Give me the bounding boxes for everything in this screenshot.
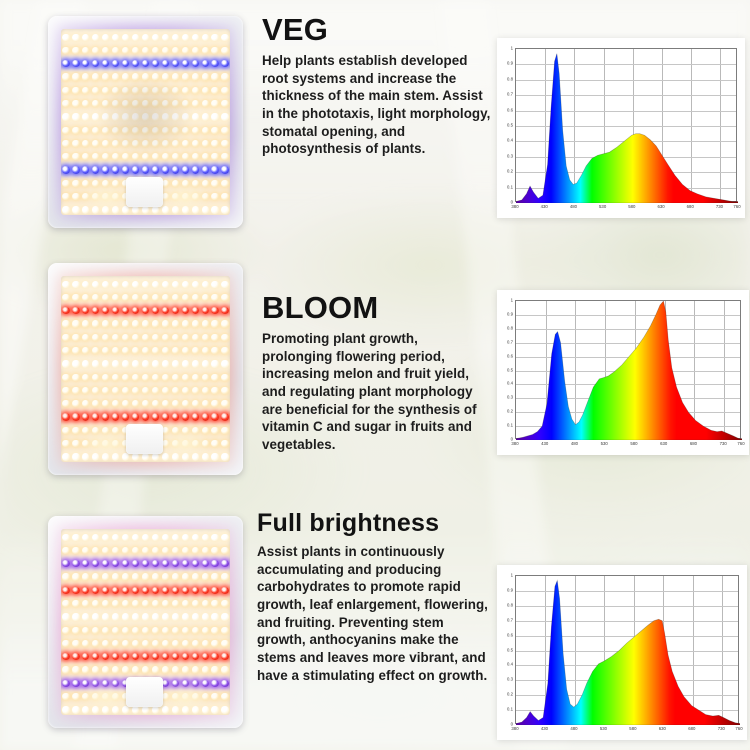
led-diode-accent [162, 60, 169, 67]
led-diode-white [211, 400, 218, 407]
led-diode-white [211, 100, 218, 107]
led-diode-white [211, 140, 218, 147]
chart-xtick-label: 480 [570, 726, 577, 731]
led-diode-white [211, 47, 218, 54]
led-diode-accent [132, 560, 139, 567]
led-diode-accent [122, 653, 129, 660]
led-diode-white [211, 627, 218, 634]
led-diode-accent [122, 560, 129, 567]
led-diode-accent [192, 166, 199, 173]
led-diode-white [192, 613, 199, 620]
chart-ytick-label: 0.1 [497, 423, 513, 428]
led-diode-white [211, 34, 218, 41]
led-row [61, 532, 230, 543]
led-diode-white [72, 374, 79, 381]
led-diode-accent [152, 166, 159, 173]
led-diode-white [162, 640, 169, 647]
led-diode-white [221, 706, 228, 713]
led-diode-white [62, 360, 69, 367]
spectrum-curve [516, 49, 738, 203]
chart-xtick-label: 760 [737, 441, 744, 446]
led-grow-light-panel-full[interactable] [48, 516, 243, 728]
led-diode-accent [72, 307, 79, 314]
led-diode-accent [112, 60, 119, 67]
led-diode-white [82, 534, 89, 541]
led-diode-white [202, 140, 209, 147]
led-diode-white [122, 640, 129, 647]
led-diode-white [202, 47, 209, 54]
led-diode-white [72, 206, 79, 213]
led-diode-white [152, 627, 159, 634]
led-diode-accent [122, 60, 129, 67]
led-panel-veg-wrapper[interactable] [48, 16, 243, 228]
led-grow-light-panel-veg[interactable] [48, 16, 243, 228]
led-diode-white [202, 360, 209, 367]
led-diode-white [82, 347, 89, 354]
led-row [61, 279, 230, 290]
led-diode-accent [221, 680, 228, 687]
spectrum-chart-card-full[interactable]: 38043048053058063068073076000.10.20.30.4… [497, 565, 747, 740]
led-diode-white [132, 320, 139, 327]
chart-xtick-label: 430 [541, 726, 548, 731]
led-diode-accent [202, 60, 209, 67]
led-diode-accent [82, 166, 89, 173]
led-diode-accent [192, 560, 199, 567]
led-diode-accent [162, 653, 169, 660]
led-diode-white [221, 427, 228, 434]
led-diode-white [202, 627, 209, 634]
chart-ytick-label: 1 [497, 298, 513, 303]
led-diode-white [72, 547, 79, 554]
led-diode-white [102, 334, 109, 341]
led-diode-accent [221, 653, 228, 660]
chart-ytick-label: 1 [497, 573, 513, 578]
led-diode-white [202, 573, 209, 580]
led-diode-white [72, 666, 79, 673]
led-diode-white [102, 534, 109, 541]
led-diode-white [72, 320, 79, 327]
led-grow-light-panel-bloom[interactable] [48, 263, 243, 475]
led-diode-white [202, 600, 209, 607]
led-diode-white [132, 47, 139, 54]
led-row [61, 319, 230, 330]
led-diode-white [62, 320, 69, 327]
led-row [61, 292, 230, 303]
led-diode-white [102, 374, 109, 381]
led-row [61, 398, 230, 409]
led-diode-white [202, 281, 209, 288]
led-diode-white [172, 34, 179, 41]
led-diode-white [132, 627, 139, 634]
chart-xtick-label: 630 [660, 441, 667, 446]
led-diode-white [92, 627, 99, 634]
led-diode-white [152, 347, 159, 354]
chart-xtick-label: 530 [601, 441, 608, 446]
led-diode-white [152, 34, 159, 41]
led-diode-white [162, 387, 169, 394]
led-row [61, 651, 230, 662]
led-diode-white [112, 600, 119, 607]
chart-xtick-label: 680 [687, 204, 694, 209]
led-diode-white [182, 47, 189, 54]
led-diode-white [202, 347, 209, 354]
led-diode-white [92, 613, 99, 620]
led-diode-white [152, 547, 159, 554]
led-diode-white [192, 547, 199, 554]
section-bloom: BLOOM Promoting plant growth, prolonging… [0, 250, 750, 500]
led-diode-white [82, 400, 89, 407]
led-diode-white [112, 294, 119, 301]
led-diode-accent [82, 587, 89, 594]
led-diode-white [142, 320, 149, 327]
led-diode-accent [162, 166, 169, 173]
led-diode-white [62, 206, 69, 213]
led-diode-white [211, 440, 218, 447]
chart-xtick-label: 380 [511, 204, 518, 209]
led-diode-white [182, 573, 189, 580]
led-diode-white [62, 193, 69, 200]
chart-xtick-label: 430 [541, 441, 548, 446]
driver-box[interactable] [126, 677, 163, 707]
led-diode-white [72, 613, 79, 620]
led-diode-white [132, 374, 139, 381]
led-diode-white [132, 334, 139, 341]
led-diode-accent [142, 413, 149, 420]
led-diode-white [172, 640, 179, 647]
led-diode-white [92, 640, 99, 647]
chart-xtick-label: 380 [511, 441, 518, 446]
led-diode-white [122, 387, 129, 394]
led-diode-white [92, 666, 99, 673]
led-diode-accent [142, 653, 149, 660]
led-diode-white [202, 334, 209, 341]
led-diode-white [211, 281, 218, 288]
led-diode-accent [192, 587, 199, 594]
led-diode-white [112, 320, 119, 327]
led-diode-accent [142, 587, 149, 594]
led-diode-white [211, 87, 218, 94]
led-diode-white [221, 547, 228, 554]
led-row [61, 359, 230, 370]
led-diode-accent [62, 307, 69, 314]
led-diode-accent [221, 560, 228, 567]
led-diode-white [172, 334, 179, 341]
chart-ytick-label: 0.7 [497, 339, 513, 344]
led-diode-accent [62, 413, 69, 420]
led-diode-white [82, 573, 89, 580]
led-diode-accent [192, 307, 199, 314]
led-diode-white [202, 73, 209, 80]
led-diode-white [132, 34, 139, 41]
led-diode-white [172, 627, 179, 634]
led-diode-white [72, 640, 79, 647]
led-row [61, 58, 230, 69]
chart-ytick-label: 0.6 [497, 107, 513, 112]
led-diode-white [122, 334, 129, 341]
led-diode-white [92, 34, 99, 41]
led-diode-accent [82, 60, 89, 67]
led-diode-white [172, 281, 179, 288]
spectrum-curve [516, 301, 742, 440]
driver-box[interactable] [126, 177, 163, 207]
led-diode-white [62, 334, 69, 341]
led-diode-accent [62, 680, 69, 687]
led-diode-white [82, 320, 89, 327]
led-diode-white [172, 320, 179, 327]
led-diode-accent [182, 60, 189, 67]
led-diode-accent [182, 560, 189, 567]
led-diode-white [62, 640, 69, 647]
led-diode-white [62, 400, 69, 407]
led-diode-white [142, 206, 149, 213]
led-diode-white [82, 34, 89, 41]
led-diode-white [211, 360, 218, 367]
led-diode-white [82, 613, 89, 620]
led-diode-white [211, 613, 218, 620]
led-diode-white [142, 281, 149, 288]
led-diode-white [82, 113, 89, 120]
chart-ytick-label: 0.9 [497, 587, 513, 592]
led-diode-white [72, 706, 79, 713]
led-diode-accent [102, 166, 109, 173]
led-diode-white [211, 153, 218, 160]
led-diode-white [82, 153, 89, 160]
led-diode-white [172, 600, 179, 607]
led-diode-white [72, 693, 79, 700]
led-diode-white [142, 627, 149, 634]
led-diode-white [221, 34, 228, 41]
led-diode-white [211, 693, 218, 700]
led-diode-white [72, 140, 79, 147]
chart-ytick-label: 0.2 [497, 692, 513, 697]
led-row [61, 385, 230, 396]
led-diode-white [82, 87, 89, 94]
led-diode-white [112, 360, 119, 367]
led-diode-white [72, 360, 79, 367]
chart-ytick-label: 0.9 [497, 311, 513, 316]
led-diode-white [122, 360, 129, 367]
led-diode-accent [152, 560, 159, 567]
led-panel-full-wrapper[interactable] [48, 516, 243, 728]
led-diode-white [142, 640, 149, 647]
led-diode-white [192, 347, 199, 354]
led-diode-white [221, 387, 228, 394]
led-diode-white [102, 47, 109, 54]
led-diode-white [211, 320, 218, 327]
led-diode-white [122, 400, 129, 407]
led-diode-white [182, 640, 189, 647]
led-diode-accent [162, 413, 169, 420]
led-diode-white [82, 334, 89, 341]
led-diode-white [211, 600, 218, 607]
led-diode-white [211, 640, 218, 647]
led-diode-white [182, 547, 189, 554]
led-diode-white [162, 360, 169, 367]
led-diode-white [152, 640, 159, 647]
led-diode-white [72, 193, 79, 200]
led-diode-accent [162, 587, 169, 594]
led-diode-white [152, 534, 159, 541]
led-diode-white [122, 573, 129, 580]
chart-plot-area [515, 48, 737, 202]
led-diode-white [152, 320, 159, 327]
led-diode-white [221, 334, 228, 341]
led-diode-white [92, 387, 99, 394]
led-diode-white [122, 320, 129, 327]
led-diode-accent [202, 560, 209, 567]
chart-ytick-label: 0.4 [497, 138, 513, 143]
led-diode-accent [82, 413, 89, 420]
led-diode-white [202, 387, 209, 394]
led-diode-white [221, 281, 228, 288]
led-diode-white [152, 47, 159, 54]
led-diode-white [62, 374, 69, 381]
led-diode-white [162, 281, 169, 288]
led-diode-accent [62, 560, 69, 567]
body-full-brightness: Assist plants in continuously accumulati… [257, 543, 495, 685]
led-diode-white [221, 573, 228, 580]
led-diode-white [202, 294, 209, 301]
led-diode-white [162, 573, 169, 580]
led-diode-white [92, 281, 99, 288]
led-diode-white [62, 100, 69, 107]
body-bloom: Promoting plant growth, prolonging flowe… [262, 330, 492, 454]
led-row [61, 638, 230, 649]
led-diode-accent [172, 587, 179, 594]
led-diode-accent [192, 60, 199, 67]
led-diode-white [102, 666, 109, 673]
led-diode-white [172, 347, 179, 354]
led-diode-white [192, 666, 199, 673]
led-diode-white [72, 73, 79, 80]
led-diode-white [102, 613, 109, 620]
led-diode-white [82, 127, 89, 134]
led-panel-bloom-wrapper[interactable] [48, 263, 243, 475]
led-diode-accent [82, 560, 89, 567]
led-diode-accent [142, 166, 149, 173]
led-diode-accent [202, 307, 209, 314]
chart-ytick-label: 0.1 [497, 184, 513, 189]
led-diode-white [142, 600, 149, 607]
led-diode-white [142, 666, 149, 673]
led-diode-white [62, 34, 69, 41]
led-hotspot [159, 433, 210, 454]
led-diode-accent [102, 60, 109, 67]
led-diode-white [182, 666, 189, 673]
led-diode-white [152, 573, 159, 580]
led-diode-white [172, 374, 179, 381]
led-diode-white [172, 387, 179, 394]
led-diode-accent [62, 60, 69, 67]
led-diode-white [221, 73, 228, 80]
led-diode-white [132, 573, 139, 580]
led-diode-accent [172, 653, 179, 660]
spectrum-chart-card-veg[interactable]: 38043048053058063068073076000.10.20.30.4… [497, 38, 745, 218]
led-diode-white [202, 34, 209, 41]
led-diode-white [72, 153, 79, 160]
board-shadow-patch [98, 77, 193, 155]
led-diode-accent [112, 166, 119, 173]
chart-ytick-label: 0.8 [497, 76, 513, 81]
led-diode-accent [62, 587, 69, 594]
led-diode-accent [211, 60, 218, 67]
led-diode-white [72, 180, 79, 187]
led-diode-white [202, 100, 209, 107]
led-diode-accent [221, 307, 228, 314]
chart-xtick-label: 630 [657, 204, 664, 209]
led-diode-white [62, 453, 69, 460]
led-diode-white [211, 127, 218, 134]
led-row [61, 545, 230, 556]
led-diode-white [192, 640, 199, 647]
spectrum-chart-card-bloom[interactable]: 38043048053058063068073076000.10.20.30.4… [497, 290, 749, 455]
led-diode-white [122, 666, 129, 673]
led-diode-white [162, 400, 169, 407]
led-diode-white [72, 600, 79, 607]
chart-xtick-label: 760 [733, 204, 740, 209]
chart-xtick-label: 530 [599, 204, 606, 209]
led-diode-accent [202, 587, 209, 594]
led-diode-white [122, 281, 129, 288]
led-diode-white [152, 281, 159, 288]
led-diode-white [221, 440, 228, 447]
chart-xtick-label: 730 [718, 726, 725, 731]
led-diode-white [162, 47, 169, 54]
led-diode-white [122, 374, 129, 381]
led-diode-accent [132, 653, 139, 660]
led-diode-accent [72, 413, 79, 420]
led-diode-white [192, 281, 199, 288]
led-diode-white [102, 281, 109, 288]
led-diode-white [202, 374, 209, 381]
chart-xtick-label: 630 [659, 726, 666, 731]
led-diode-white [92, 294, 99, 301]
led-diode-accent [92, 587, 99, 594]
led-diode-white [72, 100, 79, 107]
led-diode-white [202, 127, 209, 134]
led-diode-white [72, 440, 79, 447]
led-diode-white [221, 693, 228, 700]
chart-ytick-label: 0.6 [497, 353, 513, 358]
chart-xtick-label: 680 [690, 441, 697, 446]
led-diode-white [182, 400, 189, 407]
led-diode-white [72, 573, 79, 580]
led-diode-white [162, 334, 169, 341]
led-diode-accent [221, 413, 228, 420]
led-diode-white [182, 534, 189, 541]
led-diode-white [211, 206, 218, 213]
led-diode-accent [62, 166, 69, 173]
driver-box[interactable] [126, 424, 163, 454]
led-diode-white [162, 320, 169, 327]
led-diode-white [172, 400, 179, 407]
led-diode-white [192, 627, 199, 634]
led-diode-white [202, 153, 209, 160]
led-diode-white [72, 427, 79, 434]
led-diode-white [122, 627, 129, 634]
led-diode-white [192, 387, 199, 394]
led-diode-white [122, 34, 129, 41]
chart-ytick-label: 0 [497, 437, 513, 442]
led-diode-white [102, 627, 109, 634]
section-veg: VEG Help plants establish developed root… [0, 0, 750, 250]
led-diode-white [92, 360, 99, 367]
led-diode-white [102, 360, 109, 367]
led-diode-white [142, 374, 149, 381]
led-diode-white [112, 666, 119, 673]
led-diode-accent [172, 413, 179, 420]
led-diode-white [211, 453, 218, 460]
